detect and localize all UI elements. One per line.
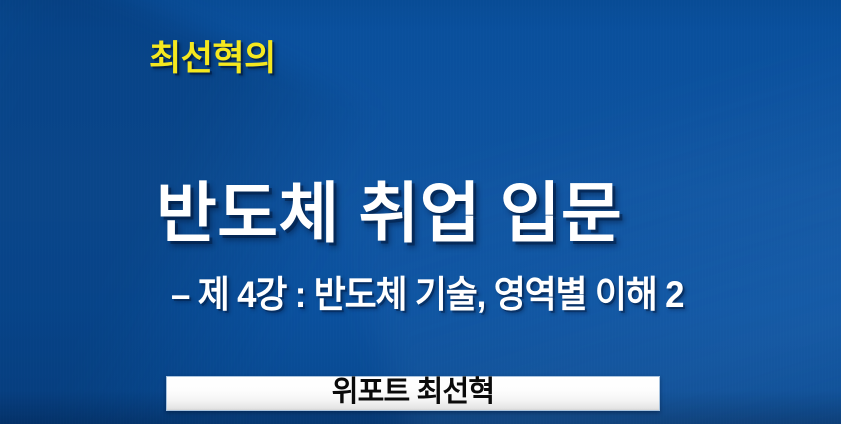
slide-title: 반도체 취업 입문 — [156, 180, 622, 246]
title-slide: 최선혁의 반도체 취업 입문 – 제 4강 : 반도체 기술, 영역별 이해 2… — [0, 0, 841, 424]
course-author-kicker: 최선혁의 — [149, 41, 276, 76]
slide-subtitle-lecture: – 제 4강 : 반도체 기술, 영역별 이해 2 — [171, 276, 683, 313]
presenter-bar: 위포트 최선혁 — [166, 376, 660, 411]
presenter-name: 위포트 최선혁 — [332, 378, 495, 407]
